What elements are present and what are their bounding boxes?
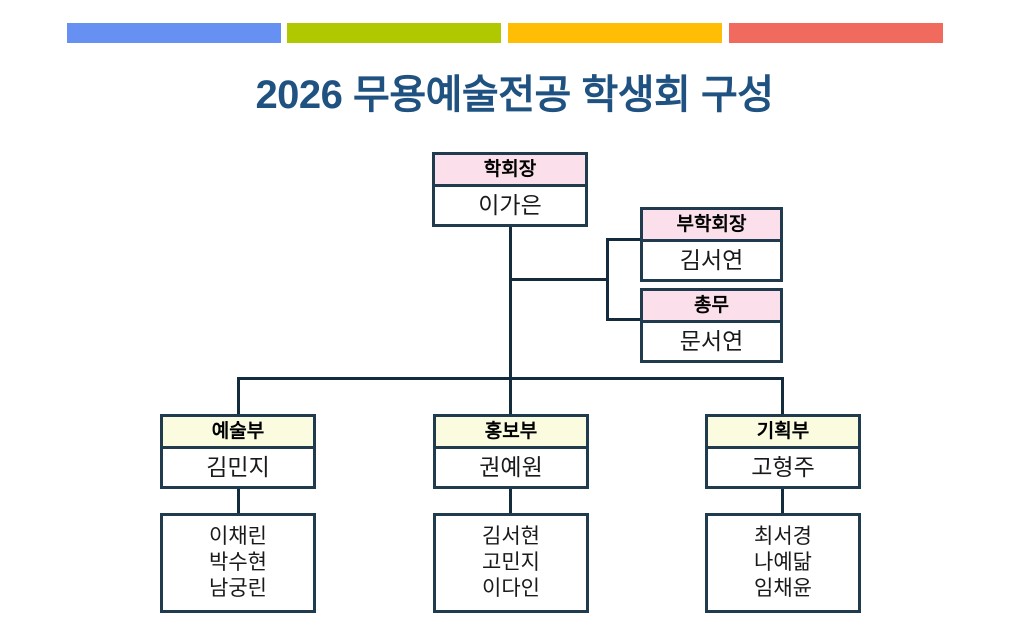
node-department-planning-head: 고형주 bbox=[708, 449, 858, 486]
decor-bar-blue bbox=[67, 23, 281, 43]
decor-bar-yellow bbox=[508, 23, 722, 43]
connector-executive-spine bbox=[606, 238, 609, 321]
connector-president-trunk bbox=[509, 224, 512, 379]
connector-executive-branch bbox=[509, 278, 609, 281]
list-item: 이다인 bbox=[482, 576, 540, 602]
list-item: 임채윤 bbox=[754, 576, 812, 602]
node-department-pr[interactable]: 홍보부 권예원 bbox=[433, 414, 589, 489]
connector-to-vice bbox=[606, 238, 642, 241]
member-list-arts[interactable]: 이채린 박수현 남궁린 bbox=[160, 513, 316, 613]
list-item: 이채린 bbox=[209, 524, 267, 550]
node-treasurer-role: 총무 bbox=[643, 291, 780, 323]
list-item: 최서경 bbox=[754, 524, 812, 550]
node-treasurer-name: 문서연 bbox=[643, 323, 780, 360]
node-president[interactable]: 학회장 이가은 bbox=[432, 152, 588, 227]
node-department-pr-head: 권예원 bbox=[436, 449, 586, 486]
node-vice-president[interactable]: 부학회장 김서연 bbox=[640, 207, 783, 282]
node-department-pr-role: 홍보부 bbox=[436, 417, 586, 449]
connector-drop-dept-0 bbox=[237, 377, 240, 415]
org-chart-canvas: 2026 무용예술전공 학생회 구성 학회장 이가은 부학회장 김서연 총무 문… bbox=[0, 0, 1029, 637]
connector-drop-dept-1 bbox=[509, 377, 512, 415]
node-president-name: 이가은 bbox=[435, 187, 585, 224]
list-item: 나예닮 bbox=[754, 550, 812, 576]
list-item: 고민지 bbox=[482, 550, 540, 576]
node-department-planning-role: 기획부 bbox=[708, 417, 858, 449]
node-treasurer[interactable]: 총무 문서연 bbox=[640, 288, 783, 363]
list-item: 남궁린 bbox=[209, 576, 267, 602]
member-list-pr[interactable]: 김서현 고민지 이다인 bbox=[433, 513, 589, 613]
list-item: 김서현 bbox=[482, 524, 540, 550]
member-list-planning[interactable]: 최서경 나예닮 임채윤 bbox=[705, 513, 861, 613]
connector-to-treasurer bbox=[606, 318, 642, 321]
node-department-arts[interactable]: 예술부 김민지 bbox=[160, 414, 316, 489]
node-vice-president-name: 김서연 bbox=[643, 242, 780, 279]
node-department-arts-head: 김민지 bbox=[163, 449, 313, 486]
connector-drop-dept-2 bbox=[781, 377, 784, 415]
node-department-arts-role: 예술부 bbox=[163, 417, 313, 449]
decor-bar-green bbox=[287, 23, 501, 43]
node-president-role: 학회장 bbox=[435, 155, 585, 187]
node-department-planning[interactable]: 기획부 고형주 bbox=[705, 414, 861, 489]
list-item: 박수현 bbox=[209, 550, 267, 576]
decor-bar-red bbox=[729, 23, 943, 43]
node-vice-president-role: 부학회장 bbox=[643, 210, 780, 242]
page-title: 2026 무용예술전공 학생회 구성 bbox=[0, 62, 1029, 120]
